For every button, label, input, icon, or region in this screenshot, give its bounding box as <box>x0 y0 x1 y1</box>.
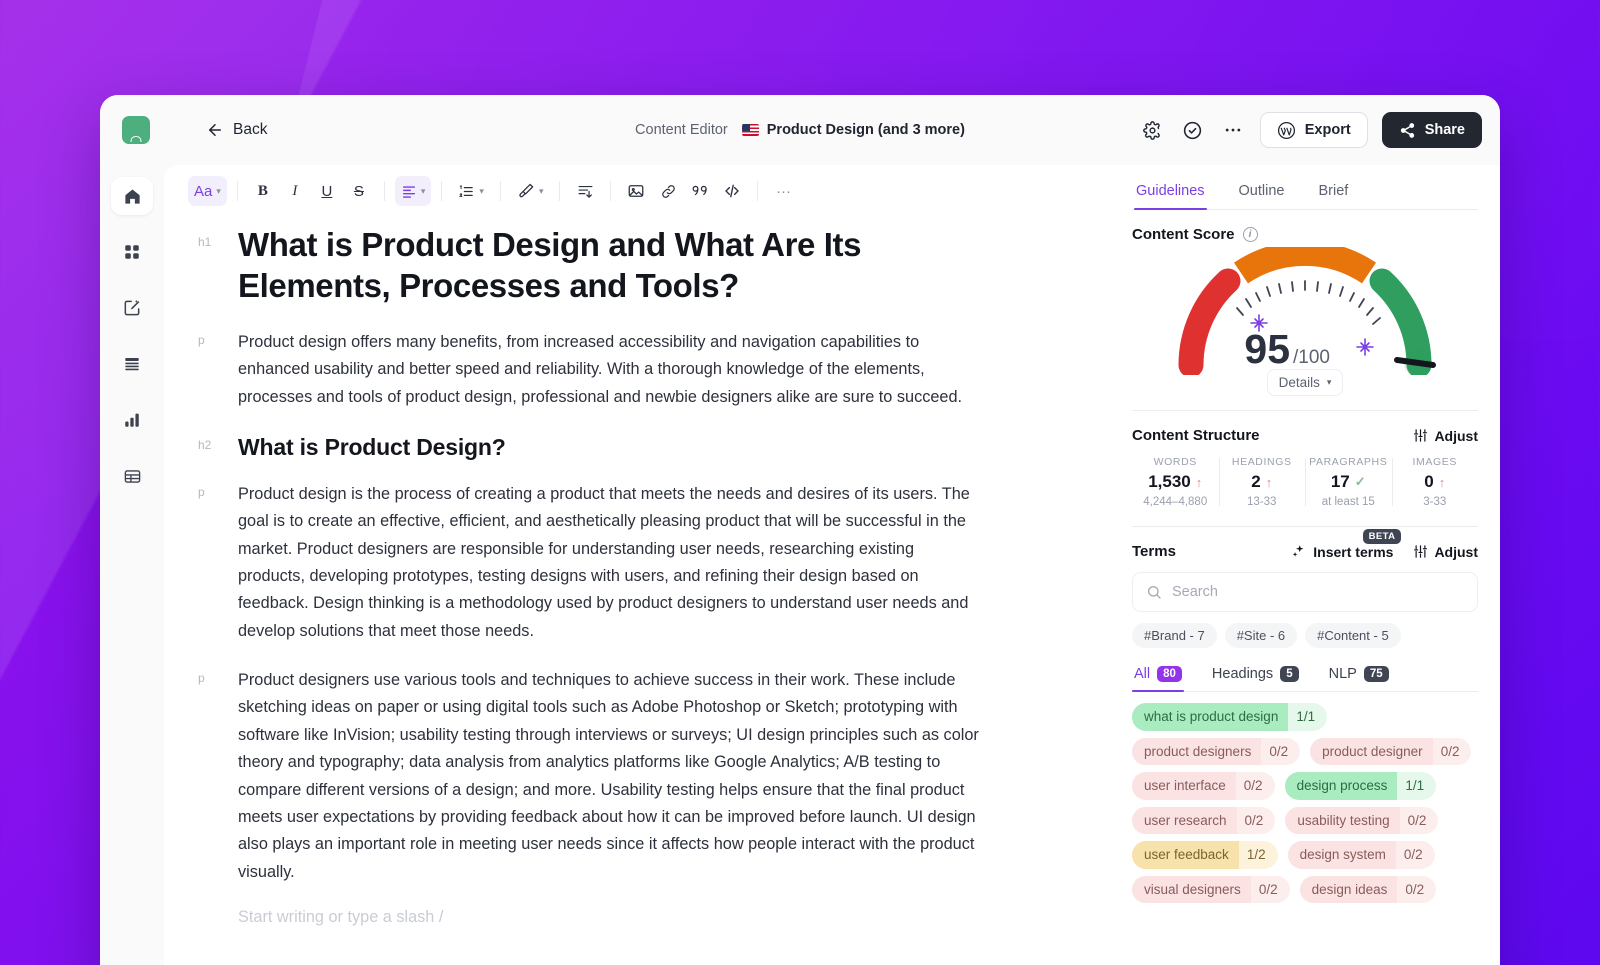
content-structure-header: Content Structure Adjust <box>1132 427 1478 444</box>
term-name: design process <box>1285 772 1398 800</box>
tab-brief[interactable]: Brief <box>1316 175 1350 209</box>
export-label: Export <box>1305 122 1351 138</box>
chevron-down-icon: ▾ <box>539 186 544 197</box>
document-paragraph[interactable]: Product design offers many benefits, fro… <box>238 329 983 411</box>
font-style-label: Aa <box>194 183 212 200</box>
stat-value-wrap: 2 ↑ <box>1223 472 1302 492</box>
numbered-list-dropdown[interactable]: ▾ <box>452 176 490 206</box>
us-flag-icon <box>742 124 759 136</box>
toolbar-divider <box>757 181 758 201</box>
subtab-nlp-count: 75 <box>1364 666 1389 682</box>
beta-badge: BETA <box>1363 529 1402 544</box>
block-tag <box>198 908 220 927</box>
strikethrough-label: S <box>354 183 364 200</box>
sidebar-item-home[interactable] <box>111 177 153 215</box>
home-icon <box>123 187 142 206</box>
toolbar-divider <box>441 181 442 201</box>
stat-words: WORDS 1,530 ↑ 4,244–4,880 <box>1132 456 1219 508</box>
paint-brush-icon <box>517 182 535 200</box>
term-item[interactable]: product designer 0/2 <box>1310 738 1471 766</box>
document-paragraph[interactable]: Product designers use various tools and … <box>238 667 983 886</box>
underline-label: U <box>321 183 332 200</box>
content-structure-title: Content Structure <box>1132 427 1260 444</box>
term-name: what is product design <box>1132 703 1288 731</box>
stat-label: IMAGES <box>1396 456 1475 468</box>
stat-label: HEADINGS <box>1223 456 1302 468</box>
term-count: 0/2 <box>1400 807 1439 835</box>
italic-label: I <box>292 183 297 200</box>
export-button[interactable]: Export <box>1260 112 1368 148</box>
header-actions: Export Share <box>1140 112 1482 148</box>
left-sidebar <box>100 165 164 965</box>
sliders-icon <box>1413 428 1428 443</box>
editor-placeholder[interactable]: Start writing or type a slash / <box>238 908 443 927</box>
code-icon <box>723 182 741 200</box>
back-label: Back <box>233 121 267 139</box>
terms-adjust-button[interactable]: Adjust <box>1413 544 1478 560</box>
toolbar-more-label: ··· <box>776 183 791 200</box>
term-name: product designers <box>1132 738 1261 766</box>
term-count: 0/2 <box>1397 876 1436 904</box>
insert-image-button[interactable] <box>621 176 651 206</box>
toolbar-more-button[interactable]: ··· <box>768 176 798 206</box>
stat-value: 0 <box>1424 472 1433 492</box>
chip-content[interactable]: #Content - 5 <box>1305 623 1401 648</box>
subtab-all[interactable]: All 80 <box>1132 662 1184 691</box>
app-window: Back Content Editor Product Design (and … <box>100 95 1500 965</box>
numbered-list-icon <box>458 183 475 200</box>
app-label: Content Editor <box>635 122 728 138</box>
terms-list: what is product design 1/1 product desig… <box>1132 703 1478 903</box>
arrow-up-icon: ↑ <box>1196 475 1203 490</box>
app-body: Aa ▾ B I U S <box>100 165 1500 965</box>
terms-adjust-label: Adjust <box>1434 544 1478 560</box>
back-button[interactable]: Back <box>206 121 267 139</box>
bold-button[interactable]: B <box>248 176 278 206</box>
document-heading-1[interactable]: What is Product Design and What Are Its … <box>238 225 878 307</box>
document-block-h2: h2 What is Product Design? <box>198 433 1070 463</box>
block-tag: p <box>198 667 220 886</box>
stat-value-wrap: 17 ✓ <box>1309 472 1388 492</box>
editor-pane: Aa ▾ B I U S <box>164 165 1110 965</box>
lines-icon <box>123 355 141 373</box>
table-icon <box>123 467 142 486</box>
align-dropdown[interactable]: ▾ <box>395 176 432 206</box>
editor-toolbar: Aa ▾ B I U S <box>164 165 1110 217</box>
document-paragraph[interactable]: Product design is the process of creatin… <box>238 481 983 645</box>
search-placeholder: Search <box>1172 584 1218 600</box>
search-icon <box>1146 584 1162 600</box>
term-item[interactable]: user interface 0/2 <box>1132 772 1275 800</box>
gear-icon[interactable] <box>1140 117 1166 143</box>
block-tag: p <box>198 329 220 411</box>
terms-filter-chips: #Brand - 7 #Site - 6 #Content - 5 <box>1132 623 1478 648</box>
term-item[interactable]: visual designers 0/2 <box>1132 876 1290 904</box>
subtab-all-count: 80 <box>1157 666 1182 682</box>
ellipsis-icon[interactable] <box>1220 117 1246 143</box>
arrow-left-icon <box>206 121 224 139</box>
panel-divider <box>1132 526 1478 527</box>
grid-icon <box>123 243 141 261</box>
stat-value: 1,530 <box>1148 472 1191 492</box>
wordpress-icon <box>1277 121 1296 140</box>
document-block-p: p Product design is the process of creat… <box>198 481 1070 645</box>
term-item[interactable]: design ideas 0/2 <box>1300 876 1437 904</box>
magic-edit-icon <box>122 298 142 318</box>
subtab-headings-label: Headings <box>1212 666 1273 682</box>
structure-adjust-button[interactable]: Adjust <box>1413 428 1478 444</box>
panel-divider <box>1132 410 1478 411</box>
content-score-title: Content Score <box>1132 226 1235 243</box>
align-left-icon <box>401 183 417 199</box>
format-brush-dropdown[interactable]: ▾ <box>511 176 550 206</box>
chip-site[interactable]: #Site - 6 <box>1225 623 1297 648</box>
quote-icon <box>691 183 709 199</box>
term-count: 0/2 <box>1261 738 1300 766</box>
term-name: design system <box>1288 841 1396 869</box>
tab-brief-label: Brief <box>1318 183 1348 199</box>
sidebar-item-apps[interactable] <box>111 233 153 271</box>
subtab-headings-count: 5 <box>1280 666 1298 682</box>
insert-terms-label: Insert terms <box>1313 544 1393 560</box>
sidebar-item-tables[interactable] <box>111 457 153 495</box>
toolbar-divider <box>610 181 611 201</box>
term-item[interactable]: user research 0/2 <box>1132 807 1275 835</box>
stat-range: 13-33 <box>1223 496 1302 508</box>
chevron-down-icon: ▾ <box>216 186 221 197</box>
stat-range: 3-33 <box>1396 496 1475 508</box>
term-count: 1/1 <box>1288 703 1327 731</box>
header-breadcrumb: Content Editor Product Design (and 3 mor… <box>635 122 965 138</box>
document-title[interactable]: Product Design (and 3 more) <box>742 122 965 138</box>
chevron-down-icon: ▾ <box>1327 377 1332 388</box>
chevron-down-icon: ▾ <box>421 186 426 197</box>
stat-value: 17 <box>1331 472 1350 492</box>
subtab-nlp-label: NLP <box>1329 666 1357 682</box>
document-body[interactable]: h1 What is Product Design and What Are I… <box>164 217 1110 965</box>
document-block-placeholder: Start writing or type a slash / <box>198 908 1070 927</box>
stat-label: WORDS <box>1136 456 1215 468</box>
term-item[interactable]: design system 0/2 <box>1288 841 1435 869</box>
term-name: design ideas <box>1300 876 1398 904</box>
insert-link-button[interactable] <box>653 176 683 206</box>
right-panel: Guidelines Outline Brief Content Score i <box>1110 165 1500 965</box>
stat-value: 2 <box>1251 472 1260 492</box>
panel-tabs: Guidelines Outline Brief <box>1132 175 1478 210</box>
italic-button[interactable]: I <box>280 176 310 206</box>
block-tag: h1 <box>198 225 220 307</box>
insert-terms-button[interactable]: BETA Insert terms <box>1291 544 1393 560</box>
stat-label: PARAGRAPHS <box>1309 456 1388 468</box>
code-block-button[interactable] <box>717 176 747 206</box>
term-count: 0/2 <box>1433 738 1472 766</box>
document-heading-2[interactable]: What is Product Design? <box>238 433 506 463</box>
term-name: visual designers <box>1132 876 1251 904</box>
chevron-down-icon: ▾ <box>479 186 484 197</box>
sidebar-item-content[interactable] <box>111 345 153 383</box>
bar-chart-icon <box>123 411 141 429</box>
document-title-text: Product Design (and 3 more) <box>767 122 965 138</box>
sliders-icon <box>1413 544 1428 559</box>
terms-search-field[interactable]: Search <box>1132 572 1478 612</box>
terms-subtabs: All 80 Headings 5 NLP 75 <box>1132 662 1478 692</box>
stat-images: IMAGES 0 ↑ 3-33 <box>1392 456 1479 508</box>
image-icon <box>627 182 645 200</box>
subtab-nlp[interactable]: NLP 75 <box>1327 662 1391 691</box>
check-circle-icon[interactable] <box>1180 117 1206 143</box>
term-item[interactable]: user feedback 1/2 <box>1132 841 1278 869</box>
sparkles-icon <box>1291 544 1306 559</box>
terms-title: Terms <box>1132 543 1176 560</box>
bold-label: B <box>258 183 268 200</box>
term-name: user interface <box>1132 772 1236 800</box>
details-label: Details <box>1279 375 1320 390</box>
tab-guidelines-label: Guidelines <box>1136 183 1205 199</box>
app-logo <box>122 116 150 144</box>
term-count: 1/1 <box>1397 772 1436 800</box>
share-label: Share <box>1425 122 1465 138</box>
term-count: 0/2 <box>1236 772 1275 800</box>
stat-headings: HEADINGS 2 ↑ 13-33 <box>1219 456 1306 508</box>
app-header: Back Content Editor Product Design (and … <box>100 95 1500 165</box>
term-item[interactable]: what is product design 1/1 <box>1132 703 1327 731</box>
terms-header: Terms BETA Insert terms <box>1132 543 1478 560</box>
insert-below-button[interactable] <box>570 176 600 206</box>
toolbar-divider <box>237 181 238 201</box>
arrow-up-icon: ↑ <box>1439 475 1446 490</box>
term-count: 0/2 <box>1396 841 1435 869</box>
term-item[interactable]: usability testing 0/2 <box>1285 807 1438 835</box>
stat-paragraphs: PARAGRAPHS 17 ✓ at least 15 <box>1305 456 1392 508</box>
term-name: product designer <box>1310 738 1433 766</box>
blockquote-button[interactable] <box>685 176 715 206</box>
check-icon: ✓ <box>1355 474 1366 490</box>
chip-brand[interactable]: #Brand - 7 <box>1132 623 1217 648</box>
document-block-p: p Product designers use various tools an… <box>198 667 1070 886</box>
document-block-p: p Product design offers many benefits, f… <box>198 329 1070 411</box>
tab-outline-label: Outline <box>1239 183 1285 199</box>
term-name: user feedback <box>1132 841 1239 869</box>
term-count: 0/2 <box>1237 807 1276 835</box>
term-name: user research <box>1132 807 1237 835</box>
share-icon <box>1399 122 1416 139</box>
term-item[interactable]: product designers 0/2 <box>1132 738 1300 766</box>
toolbar-divider <box>384 181 385 201</box>
content-structure-stats: WORDS 1,530 ↑ 4,244–4,880 HEADINGS 2 ↑ 1… <box>1132 456 1478 508</box>
term-item[interactable]: design process 1/1 <box>1285 772 1437 800</box>
toolbar-divider <box>500 181 501 201</box>
term-count: 0/2 <box>1251 876 1290 904</box>
share-button[interactable]: Share <box>1382 112 1482 148</box>
stat-value-wrap: 0 ↑ <box>1396 472 1475 492</box>
sidebar-item-analytics[interactable] <box>111 401 153 439</box>
tab-guidelines[interactable]: Guidelines <box>1134 175 1207 209</box>
subtab-all-label: All <box>1134 666 1150 682</box>
gauge-max: /100 <box>1293 347 1330 368</box>
structure-adjust-label: Adjust <box>1434 428 1478 444</box>
stat-range: 4,244–4,880 <box>1136 496 1215 508</box>
indent-down-icon <box>577 183 594 200</box>
content-structure-title-wrap: Content Structure <box>1132 427 1260 444</box>
underline-button[interactable]: U <box>312 176 342 206</box>
font-style-dropdown[interactable]: Aa ▾ <box>188 176 227 206</box>
block-tag: h2 <box>198 433 220 463</box>
stat-range: at least 15 <box>1309 496 1388 508</box>
stat-value-wrap: 1,530 ↑ <box>1136 472 1215 492</box>
content-score-header: Content Score i <box>1132 226 1478 243</box>
strikethrough-button[interactable]: S <box>344 176 374 206</box>
link-icon <box>660 183 677 200</box>
tab-outline[interactable]: Outline <box>1237 175 1287 209</box>
info-icon[interactable]: i <box>1243 227 1258 242</box>
terms-title-wrap: Terms <box>1132 543 1176 560</box>
content-score-gauge: 95 /100 <box>1132 247 1478 375</box>
gauge-svg: 95 /100 <box>1165 247 1445 375</box>
term-count: 1/2 <box>1239 841 1278 869</box>
details-button[interactable]: Details ▾ <box>1267 369 1344 396</box>
subtab-headings[interactable]: Headings 5 <box>1210 662 1301 691</box>
block-tag: p <box>198 481 220 645</box>
term-name: usability testing <box>1285 807 1399 835</box>
toolbar-divider <box>559 181 560 201</box>
document-block-h1: h1 What is Product Design and What Are I… <box>198 225 1070 307</box>
gauge-value: 95 <box>1244 326 1290 372</box>
sidebar-item-ai-writer[interactable] <box>111 289 153 327</box>
arrow-up-icon: ↑ <box>1266 475 1273 490</box>
gauge-details-row: Details ▾ <box>1132 369 1478 396</box>
